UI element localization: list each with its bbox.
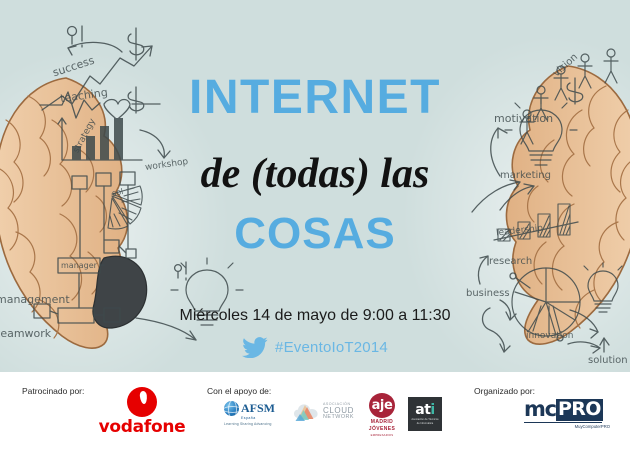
hashtag-label[interactable]: #EventoIoT2014 bbox=[275, 339, 388, 356]
cloud-network-wordmark: ASOCIACIÓN CLOUD NETWORK bbox=[323, 403, 354, 421]
sponsor-footer: Patrocinado por: Con el apoyo de: Organi… bbox=[0, 372, 630, 450]
ati-sub1: Asociación de Técnicos bbox=[411, 418, 438, 421]
afsm-name: AFSM bbox=[241, 402, 275, 414]
cloud-icon bbox=[294, 401, 320, 423]
aje-mark-icon: aje bbox=[369, 393, 395, 418]
vodafone-wordmark: vodafone bbox=[99, 418, 186, 437]
support-label: Con el apoyo de: bbox=[207, 386, 271, 396]
doodle-word: manager bbox=[61, 261, 97, 270]
doodle-word: business bbox=[466, 288, 510, 299]
doodle-word: motivation bbox=[494, 112, 553, 125]
aje-line1: MADRID bbox=[371, 419, 393, 425]
afsm-mark-row: AFSM bbox=[224, 401, 275, 416]
cn-line3: NETWORK bbox=[323, 415, 354, 421]
doodle-word: management bbox=[0, 293, 70, 306]
doodle-word: research bbox=[489, 256, 532, 267]
afsm-country: España bbox=[241, 416, 256, 420]
cloud-network-logo[interactable]: ASOCIACIÓN CLOUD NETWORK bbox=[290, 398, 358, 426]
aje-logo[interactable]: aje MADRID JÓVENES EMPRESARIOS bbox=[362, 393, 402, 437]
mcpro-mark-row: mc PRO bbox=[524, 399, 603, 420]
twitter-bird-icon[interactable] bbox=[242, 337, 268, 358]
aje-mark-text: aje bbox=[372, 399, 393, 412]
social-hashtag-row: #EventoIoT2014 bbox=[0, 337, 630, 358]
event-poster: success teaching strategy workshop sol m… bbox=[0, 0, 630, 450]
aje-line2: JÓVENES bbox=[369, 426, 395, 432]
mcpro-logo[interactable]: mc PRO MuyComputerPRO bbox=[524, 398, 610, 430]
doodle-word: marketing bbox=[500, 170, 551, 181]
vodafone-mark-icon bbox=[127, 387, 157, 417]
ati-logo[interactable]: ati Asociación de Técnicos de Informátic… bbox=[408, 397, 442, 431]
sponsor-label: Patrocinado por: bbox=[22, 386, 84, 396]
mcpro-mark-pro: PRO bbox=[556, 399, 603, 420]
vodafone-logo[interactable]: vodafone bbox=[100, 382, 184, 442]
globe-icon bbox=[224, 401, 239, 416]
organizer-label: Organizado por: bbox=[474, 386, 535, 396]
aje-line3: EMPRESARIOS bbox=[371, 433, 394, 437]
afsm-logo[interactable]: AFSM España Learning Sharing Advancing bbox=[224, 398, 286, 428]
afsm-tagline: Learning Sharing Advancing bbox=[224, 422, 272, 426]
ati-mark-text: ati bbox=[415, 403, 434, 417]
mcpro-tagline: MuyComputerPRO bbox=[575, 424, 610, 429]
ati-sub2: de Informática bbox=[417, 422, 433, 425]
mcpro-mark-mc: mc bbox=[524, 399, 556, 420]
